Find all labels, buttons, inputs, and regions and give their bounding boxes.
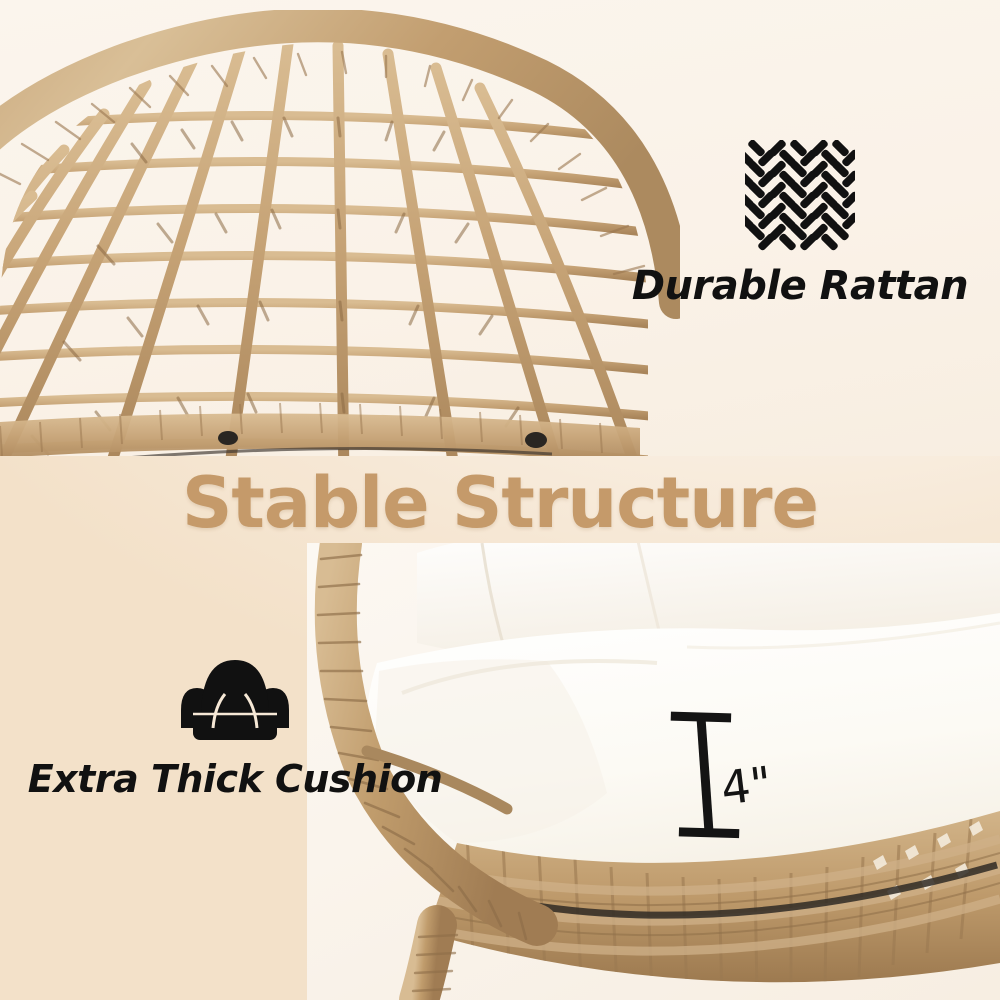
feature-extra-thick-cushion: Extra Thick Cushion — [20, 648, 450, 798]
dimension-value-label: 4" — [718, 756, 775, 816]
infographic-canvas: Stable Structure — [0, 0, 1000, 1000]
feature-durable-rattan: Durable Rattan — [620, 140, 980, 306]
armchair-cushion-icon — [177, 648, 293, 744]
rattan-dome-svg — [0, 10, 680, 456]
feature-label-extra-thick-cushion: Extra Thick Cushion — [20, 760, 450, 798]
rattan-dome-illustration — [0, 10, 680, 456]
feature-label-durable-rattan: Durable Rattan — [620, 266, 980, 306]
woven-rattan-pattern-icon — [745, 140, 855, 252]
page-title: Stable Structure — [0, 462, 1000, 544]
